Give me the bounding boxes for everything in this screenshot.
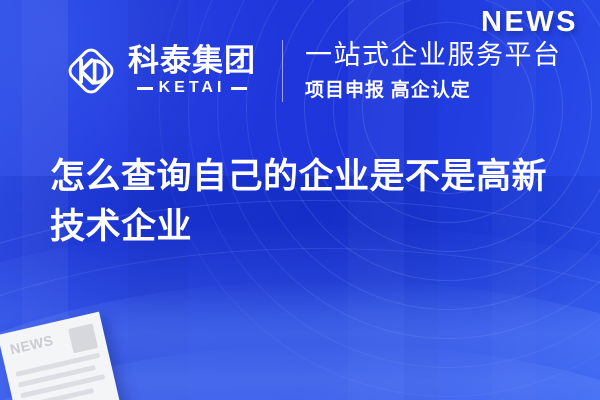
brand-name-en: KETAI <box>159 79 226 97</box>
news-banner: NEWS 科泰集团 KETAI <box>0 0 600 400</box>
dash-icon <box>137 87 153 90</box>
news-wordmark: NEWS <box>481 6 578 39</box>
brand-logo: 科泰集团 KETAI <box>62 42 256 100</box>
tagline-block: 一站式企业服务平台 项目申报 高企认定 <box>305 40 562 102</box>
kd-monogram-diamond-icon <box>62 42 120 100</box>
article-headline: 怎么查询自己的企业是不是高新技术企业 <box>50 152 570 253</box>
vertical-divider <box>282 40 283 102</box>
dash-icon <box>231 87 247 90</box>
brand-wordmark: 科泰集团 KETAI <box>128 45 256 98</box>
brand-name-en-row: KETAI <box>137 79 248 97</box>
newspaper-thumbnail <box>68 323 98 353</box>
tagline-sub: 项目申报 高企认定 <box>305 75 562 102</box>
newspaper-title: NEWS <box>8 332 54 357</box>
banner-header: 科泰集团 KETAI 一站式企业服务平台 项目申报 高企认定 <box>62 40 562 102</box>
tagline-main: 一站式企业服务平台 <box>305 40 562 71</box>
brand-name-cn: 科泰集团 <box>128 45 256 78</box>
